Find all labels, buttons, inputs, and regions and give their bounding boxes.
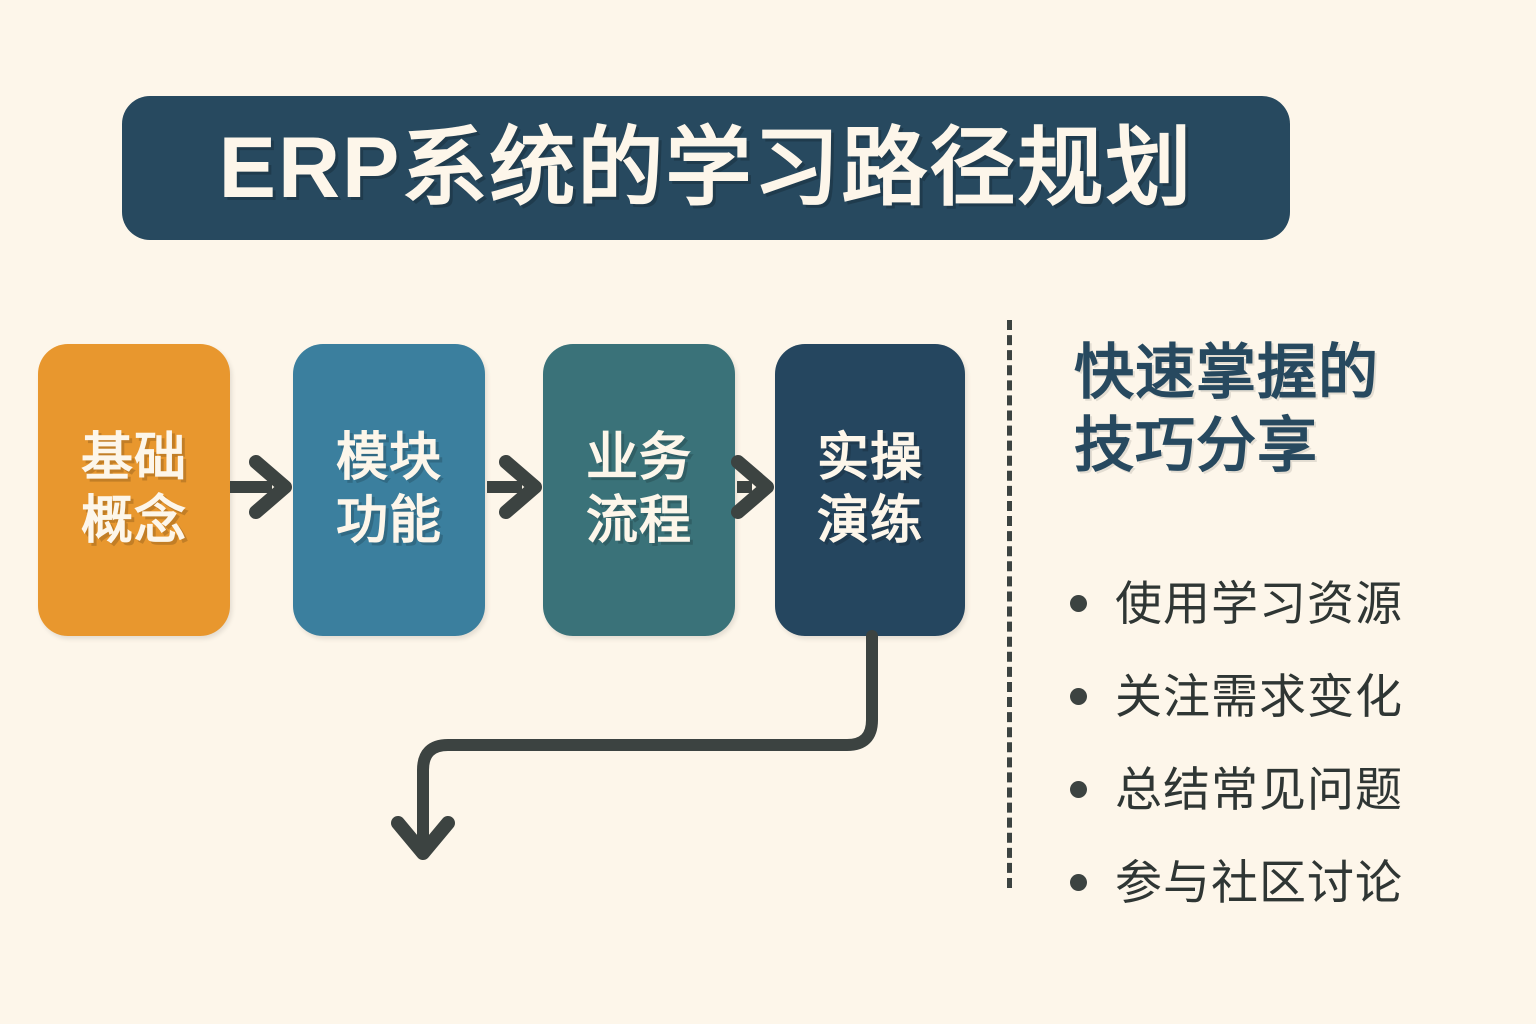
bullet-dot-icon [1070, 874, 1087, 891]
list-item-label: 使用学习资源 [1115, 580, 1403, 627]
list-item: 参与社区讨论 [1070, 836, 1500, 929]
bullet-dot-icon [1070, 781, 1087, 798]
diagram-canvas: ERP系统的学习路径规划 基础 概念 模块 功能 业务 流程 实操 演练 [0, 0, 1536, 1024]
flow-step-hands-on-practice: 实操 演练 [775, 344, 965, 636]
arrow-right-icon-1 [230, 462, 285, 512]
list-item-label: 总结常见问题 [1115, 766, 1403, 813]
list-item: 关注需求变化 [1070, 650, 1500, 743]
arrow-right-icon-2 [487, 462, 535, 512]
panel-heading: 快速掌握的 技巧分享 [1074, 336, 1494, 482]
bullet-dot-icon [1070, 688, 1087, 705]
flow-step-label: 模块 功能 [336, 427, 442, 554]
page-title-banner: ERP系统的学习路径规划 [122, 96, 1290, 240]
flow-step-label: 业务 流程 [586, 427, 692, 554]
page-title: ERP系统的学习路径规划 [219, 125, 1194, 211]
list-item: 使用学习资源 [1070, 557, 1500, 650]
bullet-dot-icon [1070, 595, 1087, 612]
vertical-dashed-divider [1007, 320, 1012, 888]
flow-step-basic-concepts: 基础 概念 [38, 344, 230, 636]
arrow-right-icon-3 [737, 462, 767, 512]
list-item: 总结常见问题 [1070, 743, 1500, 836]
flow-step-module-functions: 模块 功能 [293, 344, 485, 636]
flow-step-label: 实操 演练 [817, 427, 923, 554]
tips-list: 使用学习资源 关注需求变化 总结常见问题 参与社区讨论 [1070, 557, 1500, 929]
flow-step-business-process: 业务 流程 [543, 344, 735, 636]
list-item-label: 参与社区讨论 [1115, 859, 1403, 906]
list-item-label: 关注需求变化 [1115, 673, 1403, 720]
loopback-arrow-icon [398, 636, 872, 853]
flow-step-label: 基础 概念 [81, 427, 187, 554]
